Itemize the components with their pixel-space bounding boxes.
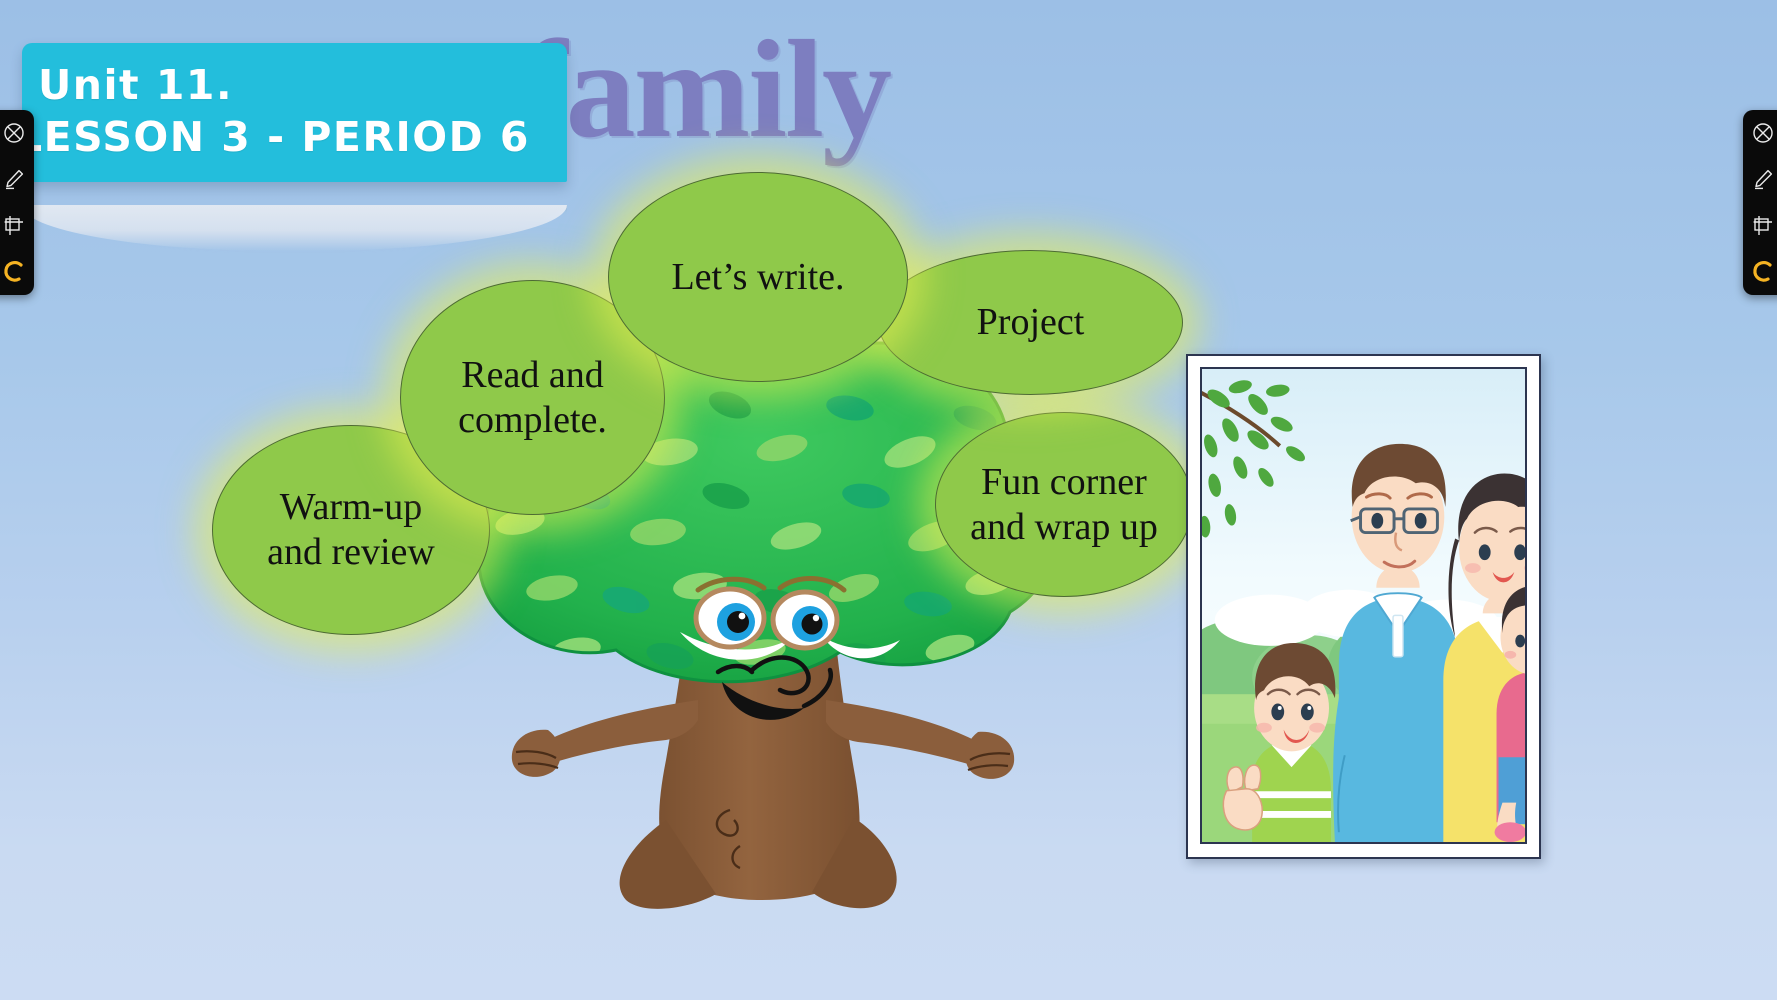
cursor-c-icon[interactable] <box>1749 258 1777 286</box>
family-photo <box>1200 367 1527 844</box>
bubble-lets-write-label: Let’s write. <box>671 255 844 300</box>
bubble-read-and-complete-label: Read and complete. <box>458 353 607 443</box>
bubble-fun-corner[interactable]: Fun corner and wrap up <box>935 412 1193 597</box>
bubble-fun-corner-label: Fun corner and wrap up <box>970 460 1158 550</box>
slide-canvas: y family <box>0 0 1777 1000</box>
pencil-icon[interactable] <box>1749 165 1777 193</box>
cursor-c-icon[interactable] <box>0 258 28 286</box>
crop-icon[interactable] <box>0 212 28 240</box>
bubble-project[interactable]: Project <box>878 250 1183 395</box>
lesson-banner: Unit 11. LESSON 3 - PERIOD 6 <box>22 43 567 182</box>
toolbar-left[interactable] <box>0 110 34 295</box>
family-photo-frame <box>1186 354 1541 859</box>
bubble-warm-up-label: Warm-up and review <box>267 485 435 575</box>
close-circle-icon[interactable] <box>1749 119 1777 147</box>
pencil-icon[interactable] <box>0 165 28 193</box>
toolbar-right[interactable] <box>1743 110 1777 295</box>
close-circle-icon[interactable] <box>0 119 28 147</box>
crop-icon[interactable] <box>1749 212 1777 240</box>
banner-lesson-label: LESSON 3 - PERIOD 6 <box>16 111 553 163</box>
bubble-lets-write[interactable]: Let’s write. <box>608 172 908 382</box>
banner-fold-shadow <box>22 205 567 253</box>
bubble-project-label: Project <box>977 300 1085 345</box>
banner-unit-label: Unit 11. <box>38 59 553 111</box>
